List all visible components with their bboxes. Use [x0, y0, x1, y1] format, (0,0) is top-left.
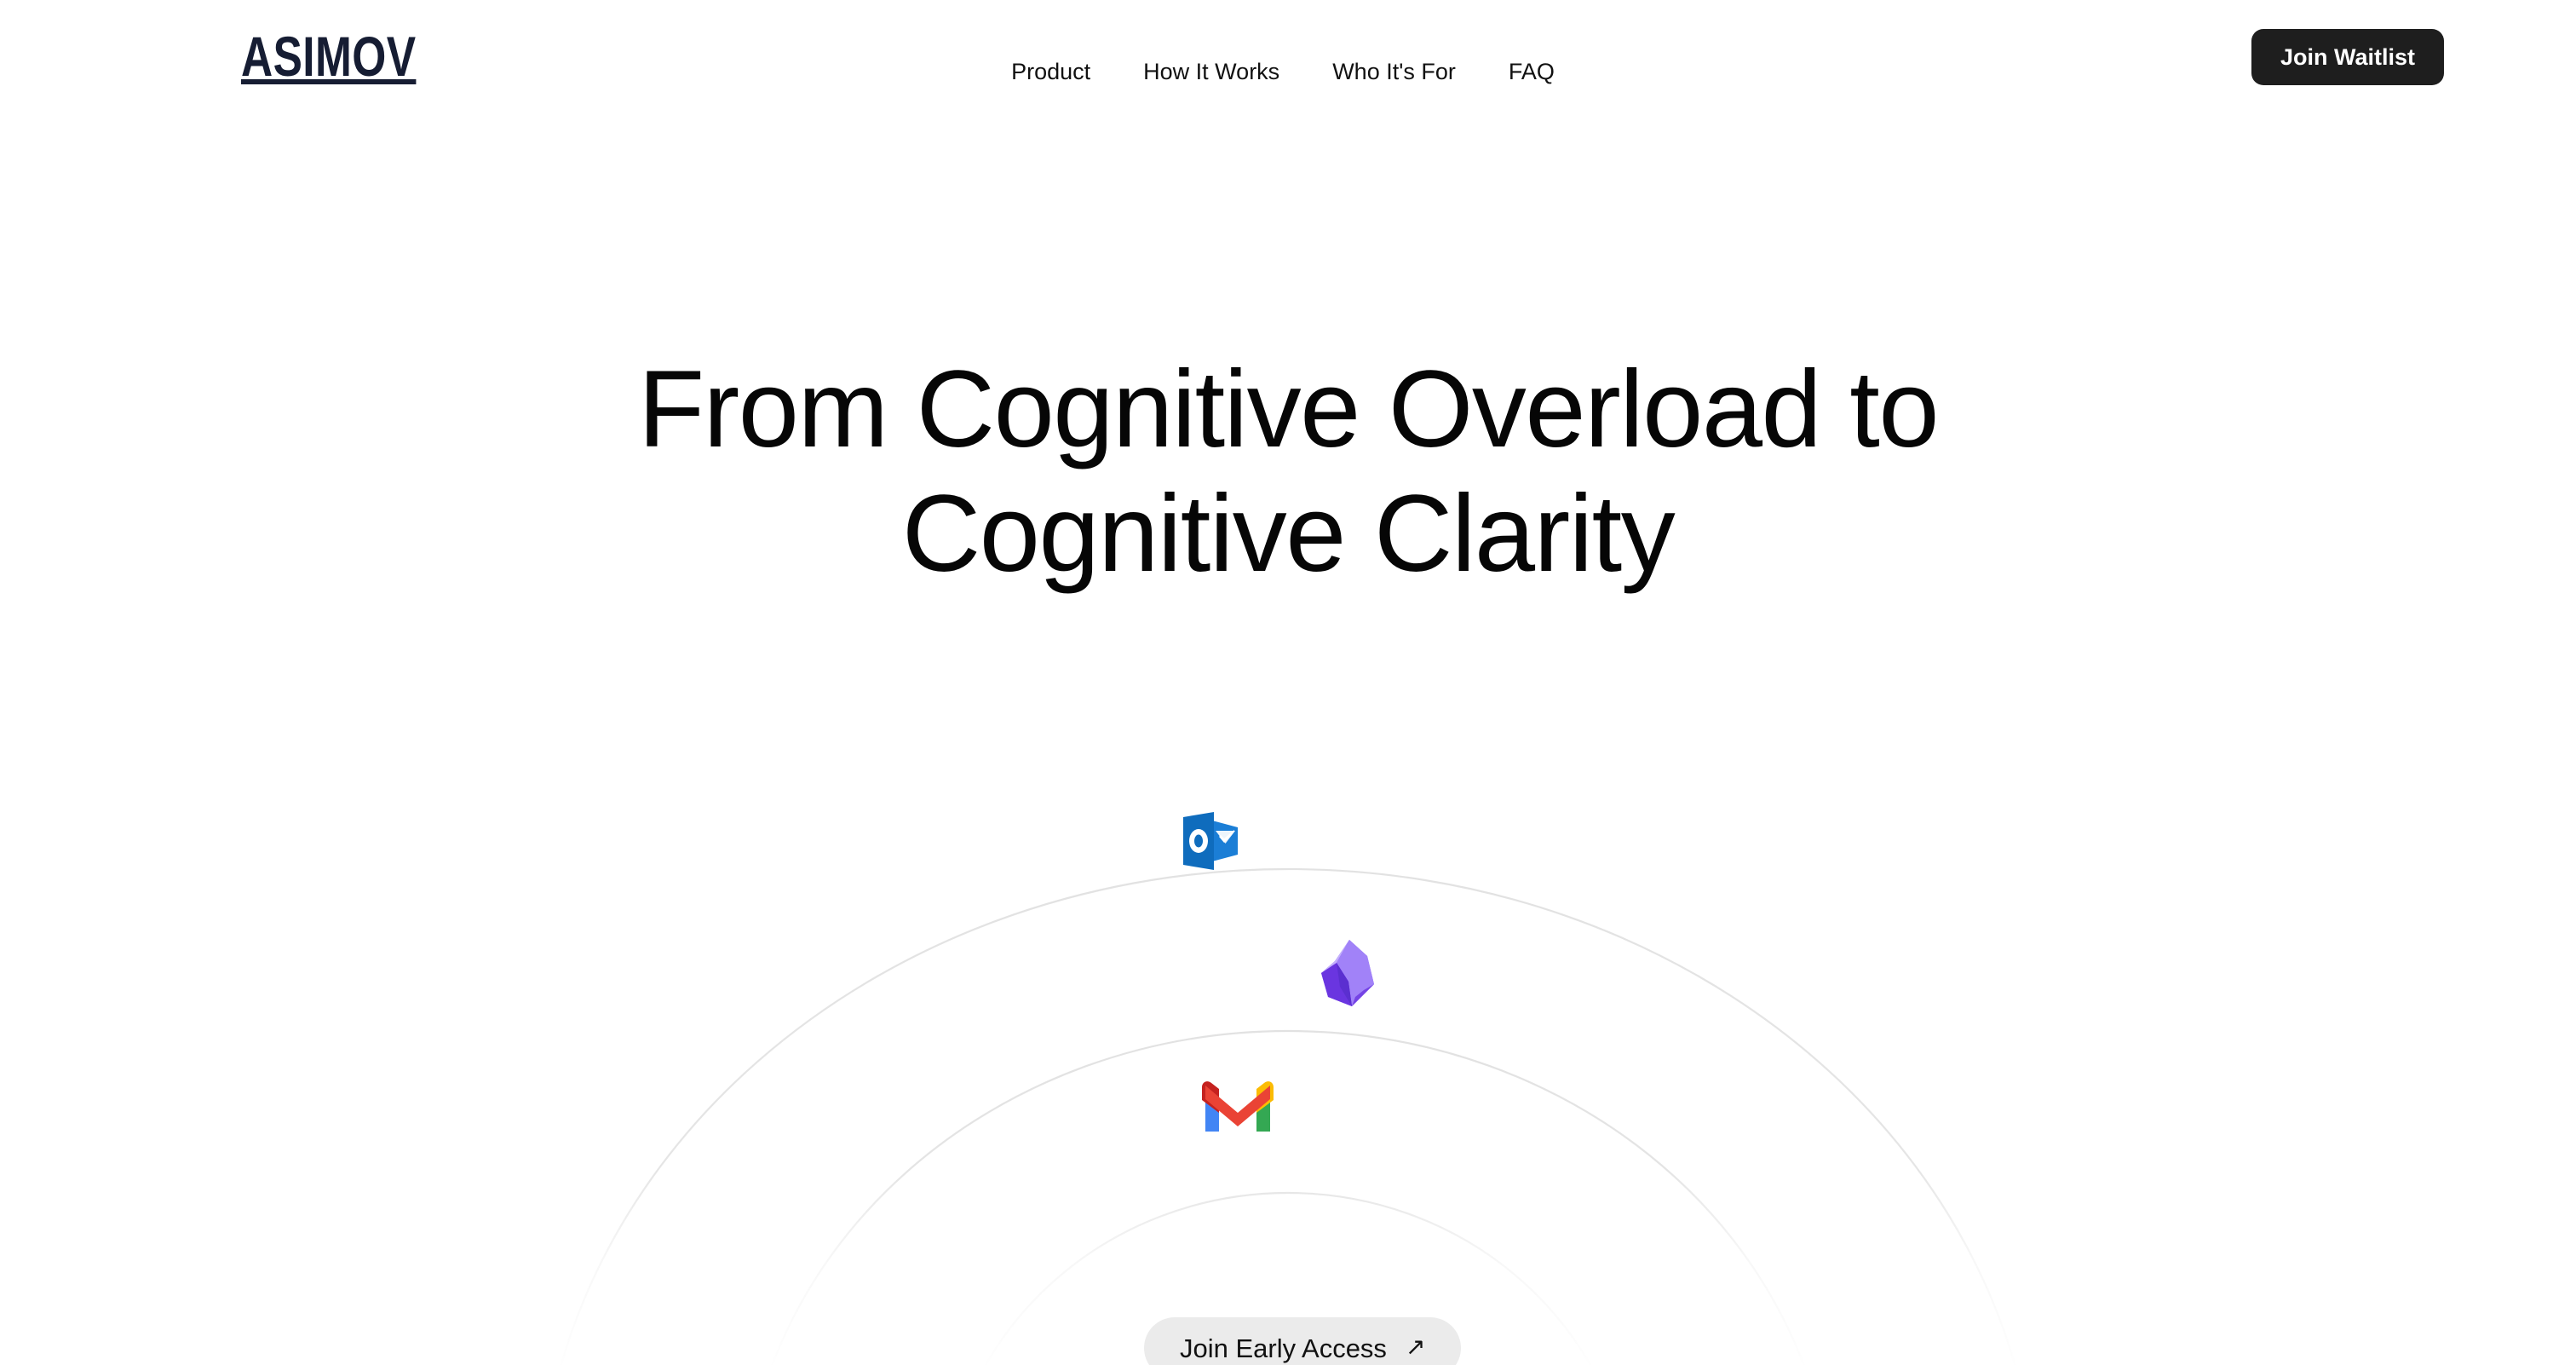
obsidian-icon — [1314, 937, 1384, 1009]
orbit-ring-outer — [538, 869, 2038, 1365]
outlook-icon — [1182, 810, 1241, 872]
landing-page: ASIMOV Product How It Works Who It's For… — [0, 0, 2576, 1365]
brand-logo[interactable]: ASIMOV — [241, 28, 416, 84]
nav-link-who-its-for[interactable]: Who It's For — [1332, 49, 1456, 94]
orbit-rings-svg — [0, 665, 2576, 1365]
nav-list: Product How It Works Who It's For FAQ — [985, 49, 1581, 94]
join-early-access-label: Join Early Access — [1180, 1335, 1387, 1362]
hero-heading-line-2: Cognitive Clarity — [0, 472, 2576, 596]
nav-link-product[interactable]: Product — [1011, 49, 1090, 94]
hero-section: From Cognitive Overload to Cognitive Cla… — [0, 0, 2576, 1365]
nav-link-how-it-works[interactable]: How It Works — [1143, 49, 1279, 94]
nav-link-faq[interactable]: FAQ — [1509, 49, 1555, 94]
orbit-graphic — [0, 665, 2576, 1365]
gmail-icon — [1200, 1079, 1275, 1133]
arrow-up-right-icon: ↗ — [1406, 1335, 1425, 1359]
hero-heading-line-1: From Cognitive Overload to — [0, 348, 2576, 472]
join-early-access-button[interactable]: Join Early Access ↗ — [1144, 1317, 1461, 1365]
site-header: ASIMOV Product How It Works Who It's For… — [0, 0, 2576, 143]
hero-heading: From Cognitive Overload to Cognitive Cla… — [0, 348, 2576, 596]
join-waitlist-button[interactable]: Join Waitlist — [2251, 29, 2444, 85]
orbit-ring-middle — [743, 1031, 1833, 1365]
